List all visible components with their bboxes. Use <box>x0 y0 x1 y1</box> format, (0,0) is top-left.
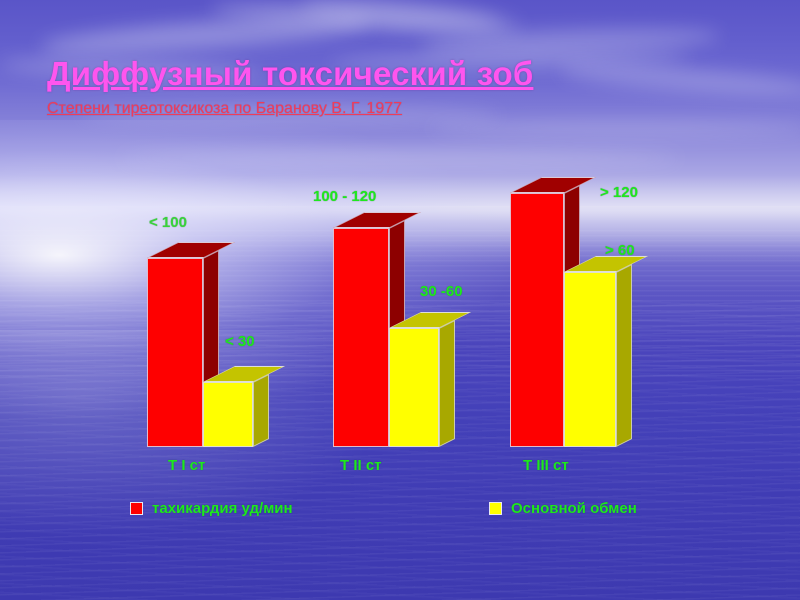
bar-face-side <box>253 374 269 447</box>
bar-face-front <box>203 382 253 447</box>
bar-red-group2[interactable] <box>333 228 389 447</box>
axis-label-category-3: Т III ст <box>523 457 569 474</box>
bar-face-front <box>147 258 203 447</box>
bar-face-top <box>147 242 235 258</box>
bar-face-front <box>389 328 439 447</box>
bar-face-front <box>564 272 616 447</box>
bar-value-label-red-group2: 100 - 120 <box>313 188 376 205</box>
bar-face-top <box>510 177 596 193</box>
axis-label-category-2: Т II ст <box>340 457 382 474</box>
bar-yellow-group2[interactable] <box>389 328 439 447</box>
bar-yellow-group1[interactable] <box>203 382 253 447</box>
chart-legend: тахикардия уд/мин Основной обмен <box>0 498 800 524</box>
bar-yellow-group3[interactable] <box>564 272 616 447</box>
legend-label-basal-metabolism: Основной обмен <box>511 500 637 517</box>
bar-face-front <box>510 193 564 447</box>
bar-value-label-yellow-group2: 30 -60 <box>420 283 463 300</box>
legend-swatch-red-icon <box>130 502 143 515</box>
legend-item-basal-metabolism[interactable]: Основной обмен <box>489 500 637 517</box>
axis-label-category-1: Т I ст <box>168 457 205 474</box>
bar-red-group3[interactable] <box>510 193 564 447</box>
bar-value-label-yellow-group1: < 30 <box>225 333 255 350</box>
bar-face-side <box>616 264 632 447</box>
bar-face-side <box>439 320 455 447</box>
legend-swatch-yellow-icon <box>489 502 502 515</box>
bar-value-label-red-group1: < 100 <box>149 214 187 231</box>
bar-red-group1[interactable] <box>147 258 203 447</box>
bar-value-label-red-group3: > 120 <box>600 184 638 201</box>
legend-item-tachycardia[interactable]: тахикардия уд/мин <box>130 500 293 517</box>
bar-value-label-yellow-group3: > 60 <box>605 242 635 259</box>
bar-face-top <box>333 212 421 228</box>
bar-face-front <box>333 228 389 447</box>
legend-label-tachycardia: тахикардия уд/мин <box>152 500 293 517</box>
slide-canvas: Диффузный токсический зоб Степени тиреот… <box>0 0 800 600</box>
